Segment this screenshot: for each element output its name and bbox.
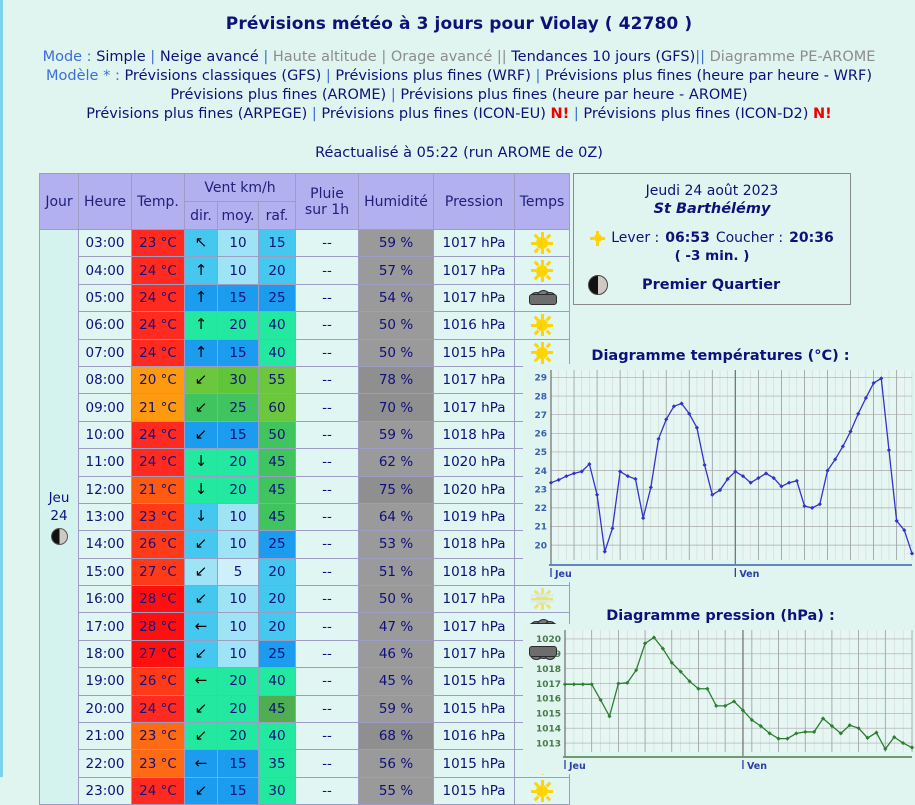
sunrise-value: 06:53 xyxy=(665,230,710,246)
link-arome[interactable]: Prévisions plus fines (AROME) xyxy=(170,87,386,103)
cell-pressure: 1016 hPa xyxy=(434,312,515,339)
cell-wind-gust: 30 xyxy=(259,777,296,804)
cell-wind-gust: 40 xyxy=(259,668,296,695)
wind-arrow-icon: ← xyxy=(195,619,208,634)
cell-wind-gust: 20 xyxy=(259,586,296,613)
cell-rain: -- xyxy=(296,312,359,339)
link-icon-d2[interactable]: Prévisions plus fines (ICON-D2) xyxy=(583,106,808,122)
cell-wind-direction: ← xyxy=(185,668,218,695)
cell-humidity: 59 % xyxy=(359,230,434,257)
cell-hour: 20:00 xyxy=(79,695,132,722)
y-tick-label: 22 xyxy=(534,504,547,514)
col-temps: Temps xyxy=(515,174,570,230)
cell-humidity: 47 % xyxy=(359,613,434,640)
cell-temp: 23 °C xyxy=(132,230,185,257)
cell-wind-direction: ↙ xyxy=(185,723,218,750)
day-name: Jeu xyxy=(40,489,78,507)
cell-rain: -- xyxy=(296,531,359,558)
cell-pressure: 1016 hPa xyxy=(434,723,515,750)
new-badge-icon-d2: N! xyxy=(813,106,832,122)
pressure-chart-title: Diagramme pression (hPa) : xyxy=(523,608,915,624)
weather-icon-wrap xyxy=(515,778,569,804)
cell-temp: 24 °C xyxy=(132,284,185,311)
y-tick-label: 24 xyxy=(534,467,547,477)
cell-wind-mean: 10 xyxy=(218,531,259,558)
cell-humidity: 70 % xyxy=(359,394,434,421)
cell-wind-mean: 20 xyxy=(218,695,259,722)
info-date: Jeudi 24 août 2023 xyxy=(574,183,850,199)
table-row: 20:0024 °C↙2045--59 %1015 hPa xyxy=(40,695,570,722)
cell-pressure: 1017 hPa xyxy=(434,586,515,613)
y-tick-label: 1016 xyxy=(536,695,561,705)
cell-temp: 26 °C xyxy=(132,668,185,695)
link-orage-avance[interactable]: Orage avancé xyxy=(391,49,492,65)
cell-wind-direction: ↖ xyxy=(185,230,218,257)
link-haute-altitude[interactable]: Haute altitude xyxy=(273,49,377,65)
table-row: 11:0024 °C↓2045--62 %1020 hPa xyxy=(40,449,570,476)
table-header-row-1: Jour Heure Temp. Vent km/h Pluie sur 1h … xyxy=(40,174,570,202)
cell-pressure: 1015 hPa xyxy=(434,695,515,722)
forecast-table: Jour Heure Temp. Vent km/h Pluie sur 1h … xyxy=(39,173,570,805)
moon-first-quarter-icon xyxy=(51,528,68,545)
cell-hour: 17:00 xyxy=(79,613,132,640)
cell-wind-gust: 25 xyxy=(259,284,296,311)
cell-temp: 27 °C xyxy=(132,558,185,585)
y-tick-label: 1013 xyxy=(536,739,561,749)
cell-rain: -- xyxy=(296,723,359,750)
cell-temp: 28 °C xyxy=(132,586,185,613)
cell-temp: 24 °C xyxy=(132,339,185,366)
cell-wind-gust: 45 xyxy=(259,503,296,530)
cell-rain: -- xyxy=(296,230,359,257)
cell-wind-direction: ↓ xyxy=(185,449,218,476)
day-axis-label: Jeu xyxy=(554,569,572,580)
cell-wind-mean: 15 xyxy=(218,421,259,448)
y-tick-label: 1014 xyxy=(536,724,561,734)
y-tick-label: 25 xyxy=(534,448,547,458)
col-vent-raf: raf. xyxy=(259,202,296,230)
cell-pressure: 1018 hPa xyxy=(434,558,515,585)
col-jour: Jour xyxy=(40,174,79,230)
model-line-2: Prévisions plus fines (AROME) | Prévisio… xyxy=(3,86,915,105)
wind-arrow-icon: ↙ xyxy=(195,591,208,606)
cell-humidity: 75 % xyxy=(359,476,434,503)
cell-humidity: 50 % xyxy=(359,586,434,613)
link-wrf-hourly[interactable]: Prévisions plus fines (heure par heure -… xyxy=(545,68,872,84)
weather-icon-wrap xyxy=(515,312,569,338)
wind-arrow-icon: ↓ xyxy=(195,482,208,497)
cell-wind-gust: 20 xyxy=(259,613,296,640)
cell-wind-direction: ↙ xyxy=(185,777,218,804)
table-row: 17:0028 °C←1020--47 %1017 hPa xyxy=(40,613,570,640)
weather-page: Prévisions météo à 3 jours pour Violay (… xyxy=(0,0,915,777)
cloud-dark-icon xyxy=(529,290,555,306)
cell-hour: 19:00 xyxy=(79,668,132,695)
cell-wind-gust: 20 xyxy=(259,257,296,284)
moon-phase-label: Premier Quartier xyxy=(642,277,780,293)
table-row: 12:0021 °C↓2045--75 %1020 hPa xyxy=(40,476,570,503)
link-wrf[interactable]: Prévisions plus fines (WRF) xyxy=(335,68,531,84)
wind-arrow-icon: ↙ xyxy=(195,564,208,579)
link-diagramme-pe-arome[interactable]: Diagramme PE-AROME xyxy=(710,49,876,65)
wind-arrow-icon: ↙ xyxy=(195,536,208,551)
col-humidite: Humidité xyxy=(359,174,434,230)
cell-wind-direction: ↓ xyxy=(185,503,218,530)
weather-icon-wrap xyxy=(515,258,569,284)
cell-temp: 24 °C xyxy=(132,257,185,284)
cell-wind-direction: ↙ xyxy=(185,366,218,393)
model-label: Modèle * : xyxy=(46,68,120,84)
cell-rain: -- xyxy=(296,613,359,640)
cell-hour: 15:00 xyxy=(79,558,132,585)
cell-hour: 11:00 xyxy=(79,449,132,476)
temperature-plot: 20212223242526272829JeuVen xyxy=(523,364,915,582)
wind-arrow-icon: ↙ xyxy=(195,728,208,743)
cell-hour: 12:00 xyxy=(79,476,132,503)
moon-first-quarter-icon xyxy=(588,275,608,295)
cell-wind-direction: ↙ xyxy=(185,394,218,421)
cell-wind-direction: ↑ xyxy=(185,257,218,284)
day-axis-label: Ven xyxy=(739,569,759,580)
cell-pressure: 1020 hPa xyxy=(434,476,515,503)
cell-hour: 04:00 xyxy=(79,257,132,284)
info-saint: St Barthélémy xyxy=(574,201,850,217)
y-tick-label: 21 xyxy=(534,523,547,533)
cell-wind-mean: 20 xyxy=(218,668,259,695)
cell-wind-mean: 10 xyxy=(218,640,259,667)
link-tendances-10-jours[interactable]: Tendances 10 jours (GFS) xyxy=(511,49,695,65)
link-simple[interactable]: Simple xyxy=(96,49,146,65)
cell-humidity: 59 % xyxy=(359,695,434,722)
cell-hour: 21:00 xyxy=(79,723,132,750)
new-badge-icon-eu: N! xyxy=(550,106,569,122)
cell-wind-gust: 40 xyxy=(259,312,296,339)
cell-humidity: 54 % xyxy=(359,284,434,311)
cell-humidity: 50 % xyxy=(359,312,434,339)
wind-arrow-icon: ↓ xyxy=(195,454,208,469)
day-axis-label: Ven xyxy=(747,761,767,772)
cell-rain: -- xyxy=(296,366,359,393)
cell-wind-gust: 35 xyxy=(259,750,296,777)
cell-weather xyxy=(515,257,570,284)
cell-hour: 08:00 xyxy=(79,366,132,393)
table-row: 05:0024 °C↑1525--54 %1017 hPa xyxy=(40,284,570,311)
cell-humidity: 51 % xyxy=(359,558,434,585)
cell-temp: 28 °C xyxy=(132,613,185,640)
cell-wind-mean: 10 xyxy=(218,586,259,613)
col-vent-dir: dir. xyxy=(185,202,218,230)
cell-humidity: 46 % xyxy=(359,640,434,667)
cell-temp: 26 °C xyxy=(132,531,185,558)
link-gfs[interactable]: Prévisions classiques (GFS) xyxy=(124,68,321,84)
nav-links: Mode : Simple | Neige avancé | Haute alt… xyxy=(3,48,915,124)
cell-temp: 20 °C xyxy=(132,366,185,393)
cell-wind-mean: 20 xyxy=(218,312,259,339)
table-row: 10:0024 °C↙1550--59 %1018 hPa xyxy=(40,421,570,448)
cell-temp: 24 °C xyxy=(132,777,185,804)
table-row: 09:0021 °C↙2560--70 %1017 hPa xyxy=(40,394,570,421)
cell-pressure: 1015 hPa xyxy=(434,339,515,366)
temperature-chart-title: Diagramme températures (°C) : xyxy=(523,348,915,364)
y-tick-label: 23 xyxy=(534,485,547,495)
cell-wind-mean: 30 xyxy=(218,366,259,393)
weather-icon-wrap xyxy=(515,230,569,256)
day-cell: Jeu24 xyxy=(40,230,79,805)
y-tick-label: 1018 xyxy=(536,665,561,675)
cell-pressure: 1015 hPa xyxy=(434,777,515,804)
refresh-status: Réactualisé à 05:22 (run AROME de 0Z) xyxy=(3,145,915,161)
cell-wind-direction: ↙ xyxy=(185,421,218,448)
wind-arrow-icon: ↙ xyxy=(195,372,208,387)
cell-rain: -- xyxy=(296,476,359,503)
cell-wind-mean: 20 xyxy=(218,723,259,750)
cell-wind-direction: ← xyxy=(185,613,218,640)
cell-hour: 16:00 xyxy=(79,586,132,613)
table-row: 07:0024 °C↑1540--50 %1015 hPa xyxy=(40,339,570,366)
temperature-plot-svg: 20212223242526272829JeuVen xyxy=(523,364,915,582)
cell-humidity: 64 % xyxy=(359,503,434,530)
cell-rain: -- xyxy=(296,449,359,476)
cell-pressure: 1017 hPa xyxy=(434,613,515,640)
cell-humidity: 53 % xyxy=(359,531,434,558)
cell-wind-gust: 40 xyxy=(259,723,296,750)
cell-weather xyxy=(515,230,570,257)
cell-rain: -- xyxy=(296,339,359,366)
cell-wind-direction: ↙ xyxy=(185,695,218,722)
table-row: 06:0024 °C↑2040--50 %1016 hPa xyxy=(40,312,570,339)
link-arpege[interactable]: Prévisions plus fines (ARPEGE) xyxy=(86,106,307,122)
cell-temp: 24 °C xyxy=(132,421,185,448)
cell-wind-gust: 45 xyxy=(259,695,296,722)
table-row: 22:0023 °C←1535--56 %1015 hPa xyxy=(40,750,570,777)
cell-humidity: 56 % xyxy=(359,750,434,777)
cell-wind-gust: 45 xyxy=(259,476,296,503)
wind-arrow-icon: ↑ xyxy=(195,345,208,360)
sun-icon xyxy=(531,780,553,802)
link-arome-hourly[interactable]: Prévisions plus fines (heure par heure -… xyxy=(400,87,747,103)
sun-icon xyxy=(531,260,553,282)
cell-rain: -- xyxy=(296,640,359,667)
sun-icon xyxy=(531,314,553,336)
wind-arrow-icon: ↙ xyxy=(195,427,208,442)
col-pluie-line1: Pluie xyxy=(296,186,358,202)
page-title: Prévisions météo à 3 jours pour Violay (… xyxy=(3,0,915,34)
cell-wind-mean: 15 xyxy=(218,777,259,804)
table-row: 14:0026 °C↙1025--53 %1018 hPa xyxy=(40,531,570,558)
cell-rain: -- xyxy=(296,503,359,530)
cell-wind-mean: 20 xyxy=(218,476,259,503)
table-row: 08:0020 °C↙3055--78 %1017 hPa xyxy=(40,366,570,393)
pressure-plot-svg: 10131014101510161017101810191020JeuVen xyxy=(523,624,915,774)
sun-icon xyxy=(531,232,553,254)
cell-rain: -- xyxy=(296,750,359,777)
cell-wind-direction: ↙ xyxy=(185,586,218,613)
cell-rain: -- xyxy=(296,695,359,722)
cell-wind-gust: 20 xyxy=(259,558,296,585)
cell-pressure: 1017 hPa xyxy=(434,230,515,257)
cell-rain: -- xyxy=(296,421,359,448)
table-row: 13:0023 °C↓1045--64 %1019 hPa xyxy=(40,503,570,530)
cell-temp: 27 °C xyxy=(132,640,185,667)
col-vent-group: Vent km/h xyxy=(185,174,296,202)
cell-humidity: 68 % xyxy=(359,723,434,750)
wind-arrow-icon: ↑ xyxy=(195,290,208,305)
wind-arrow-icon: ↖ xyxy=(195,235,208,250)
cell-temp: 21 °C xyxy=(132,394,185,421)
cell-wind-direction: ↓ xyxy=(185,476,218,503)
cell-wind-direction: ↑ xyxy=(185,284,218,311)
cell-hour: 13:00 xyxy=(79,503,132,530)
y-tick-label: 26 xyxy=(534,430,547,440)
cell-pressure: 1017 hPa xyxy=(434,640,515,667)
cloud-dark-icon xyxy=(529,647,544,658)
sunset-value: 20:36 xyxy=(789,230,834,246)
cell-hour: 06:00 xyxy=(79,312,132,339)
cell-wind-mean: 5 xyxy=(218,558,259,585)
table-row: 16:0028 °C↙1020--50 %1017 hPa xyxy=(40,586,570,613)
cell-humidity: 55 % xyxy=(359,777,434,804)
cell-hour: 23:00 xyxy=(79,777,132,804)
cell-pressure: 1017 hPa xyxy=(434,366,515,393)
cell-temp: 23 °C xyxy=(132,723,185,750)
y-tick-label: 29 xyxy=(534,374,547,384)
cell-wind-direction: ← xyxy=(185,750,218,777)
cell-hour: 03:00 xyxy=(79,230,132,257)
y-tick-label: 1015 xyxy=(536,710,561,720)
y-tick-label: 1017 xyxy=(536,680,561,690)
y-tick-label: 28 xyxy=(534,392,547,402)
cell-wind-gust: 40 xyxy=(259,339,296,366)
cell-pressure: 1017 hPa xyxy=(434,394,515,421)
wind-arrow-icon: ↙ xyxy=(195,646,208,661)
cell-temp: 24 °C xyxy=(132,312,185,339)
pressure-plot: 10131014101510161017101810191020JeuVen xyxy=(523,624,915,774)
cell-hour: 05:00 xyxy=(79,284,132,311)
cell-wind-direction: ↙ xyxy=(185,640,218,667)
y-tick-label: 27 xyxy=(534,411,547,421)
cell-rain: -- xyxy=(296,558,359,585)
daylength-offset: ( -3 min. ) xyxy=(574,248,850,264)
cell-pressure: 1017 hPa xyxy=(434,284,515,311)
sunrise-label: Lever : xyxy=(611,230,659,246)
col-pluie: Pluie sur 1h xyxy=(296,174,359,230)
cell-wind-gust: 60 xyxy=(259,394,296,421)
mode-line: Mode : Simple | Neige avancé | Haute alt… xyxy=(3,48,915,67)
wind-arrow-icon: ↙ xyxy=(195,400,208,415)
cell-humidity: 62 % xyxy=(359,449,434,476)
cell-temp: 21 °C xyxy=(132,476,185,503)
cell-rain: -- xyxy=(296,284,359,311)
cell-wind-mean: 10 xyxy=(218,257,259,284)
wind-arrow-icon: ↓ xyxy=(195,509,208,524)
cell-wind-mean: 10 xyxy=(218,503,259,530)
col-pression: Pression xyxy=(434,174,515,230)
wind-arrow-icon: ← xyxy=(195,756,208,771)
model-line-1: Modèle * : Prévisions classiques (GFS) |… xyxy=(3,67,915,86)
cell-wind-direction: ↑ xyxy=(185,339,218,366)
link-icon-eu[interactable]: Prévisions plus fines (ICON-EU) xyxy=(321,106,545,122)
cell-wind-gust: 15 xyxy=(259,230,296,257)
cell-weather xyxy=(515,284,570,311)
col-temp: Temp. xyxy=(132,174,185,230)
weather-icon-wrap xyxy=(515,285,569,311)
cell-wind-mean: 25 xyxy=(218,394,259,421)
table-row: 15:0027 °C↙520--51 %1018 hPa xyxy=(40,558,570,585)
y-tick-label: 20 xyxy=(534,541,547,551)
cell-pressure: 1015 hPa xyxy=(434,750,515,777)
col-pluie-line2: sur 1h xyxy=(296,202,358,218)
cell-wind-mean: 15 xyxy=(218,750,259,777)
cell-rain: -- xyxy=(296,394,359,421)
model-line-3: Prévisions plus fines (ARPEGE) | Prévisi… xyxy=(3,105,915,124)
cell-pressure: 1017 hPa xyxy=(434,257,515,284)
table-row: 21:0023 °C↙2040--68 %1016 hPa xyxy=(40,723,570,750)
table-row: 19:0026 °C←2040--45 %1015 hPa xyxy=(40,668,570,695)
cell-wind-mean: 20 xyxy=(218,449,259,476)
temperature-chart: Diagramme températures (°C) : 2021222324… xyxy=(523,348,915,586)
pressure-chart: Diagramme pression (hPa) : 1013101410151… xyxy=(523,608,915,777)
cell-temp: 23 °C xyxy=(132,503,185,530)
cell-wind-gust: 25 xyxy=(259,531,296,558)
cell-weather xyxy=(515,777,570,804)
cell-wind-gust: 50 xyxy=(259,421,296,448)
table-row: 18:0027 °C↙1025--46 %1017 hPa xyxy=(40,640,570,667)
table-row: Jeu2403:0023 °C↖1015--59 %1017 hPa xyxy=(40,230,570,257)
link-neige-avance[interactable]: Neige avancé xyxy=(160,49,259,65)
cell-hour: 10:00 xyxy=(79,421,132,448)
wind-arrow-icon: ↙ xyxy=(195,701,208,716)
cell-pressure: 1015 hPa xyxy=(434,668,515,695)
table-row: 23:0024 °C↙1530--55 %1015 hPa xyxy=(40,777,570,804)
cell-wind-direction: ↑ xyxy=(185,312,218,339)
cell-wind-gust: 45 xyxy=(259,449,296,476)
sunset-label: Coucher : xyxy=(716,230,783,246)
cell-wind-gust: 55 xyxy=(259,366,296,393)
cell-temp: 24 °C xyxy=(132,695,185,722)
wind-arrow-icon: ← xyxy=(195,673,208,688)
col-vent-moy: moy. xyxy=(218,202,259,230)
cell-wind-mean: 10 xyxy=(218,613,259,640)
cell-rain: -- xyxy=(296,257,359,284)
table-row: 04:0024 °C↑1020--57 %1017 hPa xyxy=(40,257,570,284)
cell-humidity: 45 % xyxy=(359,668,434,695)
cell-wind-direction: ↙ xyxy=(185,558,218,585)
cell-weather xyxy=(515,312,570,339)
cell-wind-direction: ↙ xyxy=(185,531,218,558)
cell-humidity: 78 % xyxy=(359,366,434,393)
col-heure: Heure xyxy=(79,174,132,230)
cell-pressure: 1018 hPa xyxy=(434,421,515,448)
cell-wind-mean: 15 xyxy=(218,339,259,366)
wind-arrow-icon: ↙ xyxy=(195,783,208,798)
cell-wind-mean: 15 xyxy=(218,284,259,311)
sun-hazy-icon xyxy=(531,588,553,610)
cell-hour: 18:00 xyxy=(79,640,132,667)
cell-hour: 14:00 xyxy=(79,531,132,558)
cell-pressure: 1018 hPa xyxy=(434,531,515,558)
y-tick-label: 1020 xyxy=(536,635,561,645)
day-number: 24 xyxy=(40,507,78,525)
cell-humidity: 50 % xyxy=(359,339,434,366)
moon-phase-row: Premier Quartier xyxy=(574,275,850,295)
cell-rain: -- xyxy=(296,586,359,613)
sun-times-row: Lever : 06:53 Coucher : 20:36 xyxy=(574,230,850,246)
cell-humidity: 59 % xyxy=(359,421,434,448)
cell-hour: 07:00 xyxy=(79,339,132,366)
mode-label: Mode : xyxy=(43,49,92,65)
cell-humidity: 57 % xyxy=(359,257,434,284)
cell-temp: 23 °C xyxy=(132,750,185,777)
